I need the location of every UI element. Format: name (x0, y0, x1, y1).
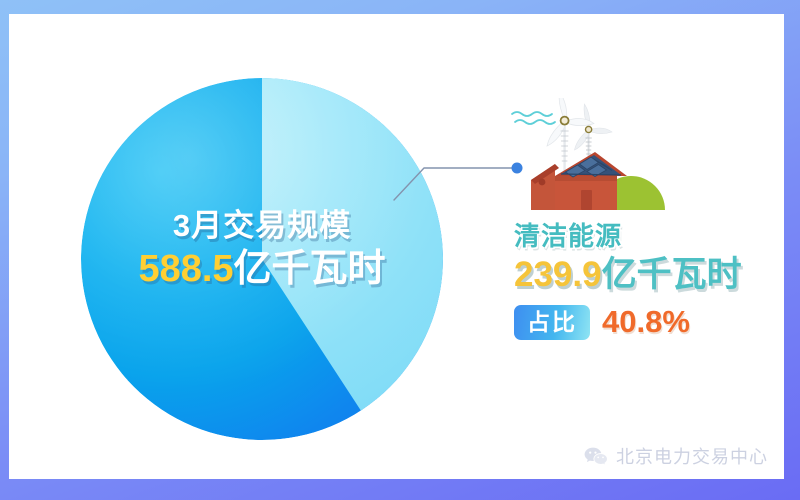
watermark: 北京电力交易中心 (584, 443, 768, 469)
poster-canvas: 3月交易规模 588.5亿千瓦时 (9, 14, 784, 479)
info-value: 239.9亿千瓦时 (514, 257, 779, 294)
info-title: 清洁能源 (514, 222, 779, 251)
solar-house-icon (531, 152, 627, 210)
clean-energy-info-block: 清洁能源 239.9亿千瓦时 占比 40.8% (514, 222, 779, 340)
share-label-badge: 占比 (514, 305, 590, 340)
watermark-text: 北京电力交易中心 (616, 443, 768, 469)
pie-center-label: 3月交易规模 588.5亿千瓦时 (81, 210, 443, 288)
wind-waves-icon (512, 112, 555, 124)
share-percentage-value: 40.8% (602, 304, 690, 340)
wechat-icon (584, 446, 608, 467)
poster-frame: 3月交易规模 588.5亿千瓦时 (0, 0, 800, 500)
info-value-number: 239.9 (514, 255, 602, 294)
info-value-unit: 亿千瓦时 (602, 255, 742, 294)
pie-label-title: 3月交易规模 (81, 210, 443, 241)
pie-label-value-unit: 亿千瓦时 (234, 248, 386, 290)
share-row: 占比 40.8% (514, 304, 779, 340)
clean-energy-illustration (509, 98, 679, 220)
pie-label-value-number: 588.5 (138, 248, 233, 290)
pie-label-value: 588.5亿千瓦时 (81, 250, 443, 288)
